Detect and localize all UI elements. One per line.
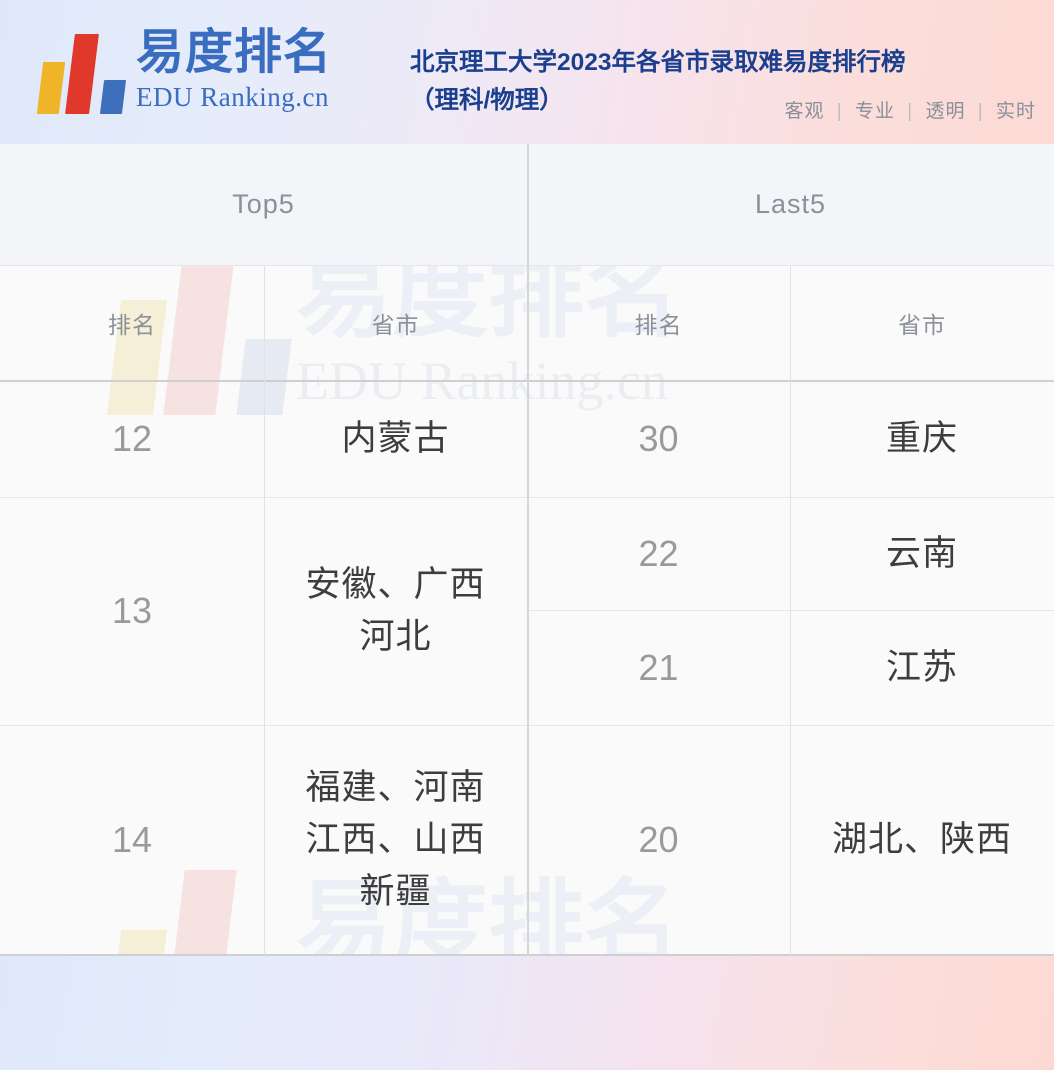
table-row: 内蒙古 [264,381,527,497]
tagline-item-2: 透明 [925,101,965,122]
table-row: 14 [0,725,264,955]
logo-bar-red [65,34,99,114]
table-row: 22 [527,497,790,610]
brand-logo[interactable]: 易度排名 EDU Ranking.cn [36,26,336,124]
table-row: 12 [0,381,264,497]
tagline-item-3: 实时 [996,101,1036,122]
tagline-separator: | [972,101,990,122]
logo-text-cn: 易度排名 [136,24,332,82]
column-header-province-left: 省市 [264,265,527,380]
tagline-item-0: 客观 [784,101,824,122]
column-header-rank-right: 排名 [527,265,790,380]
group-header-last5: Last5 [527,144,1054,265]
tagline: 客观 | 专业 | 透明 | 实时 [784,96,1036,123]
bar-chart-logo-icon [38,32,134,114]
ranking-table: Top5 Last5 排名 省市 排名 省市 12 内蒙古 13 安徽、广西 河… [0,144,1054,956]
table-row: 21 [527,610,790,725]
logo-bar-blue [100,80,126,114]
table-row: 江苏 [790,610,1054,725]
logo-bar-yellow [37,62,65,114]
tagline-separator: | [831,101,849,122]
page-footer [0,956,1054,1070]
table-row: 云南 [790,497,1054,610]
table-row: 30 [527,381,790,497]
page-title-line1: 北京理工大学2023年各省市录取难易度排行榜 [410,44,1050,82]
column-header-rank-left: 排名 [0,265,264,380]
table-row: 湖北、陕西 [790,725,1054,955]
table-row: 13 [0,497,264,725]
table-row: 安徽、广西 河北 [264,497,527,725]
logo-text-en: EDU Ranking.cn [136,82,329,113]
column-header-province-right: 省市 [790,265,1054,380]
tagline-item-1: 专业 [855,101,895,122]
table-row: 重庆 [790,381,1054,497]
tagline-separator: | [901,101,919,122]
page-header: 易度排名 EDU Ranking.cn 北京理工大学2023年各省市录取难易度排… [0,0,1054,144]
table-row: 福建、河南 江西、山西 新疆 [264,725,527,955]
table-row: 20 [527,725,790,955]
group-header-top5: Top5 [0,144,527,265]
